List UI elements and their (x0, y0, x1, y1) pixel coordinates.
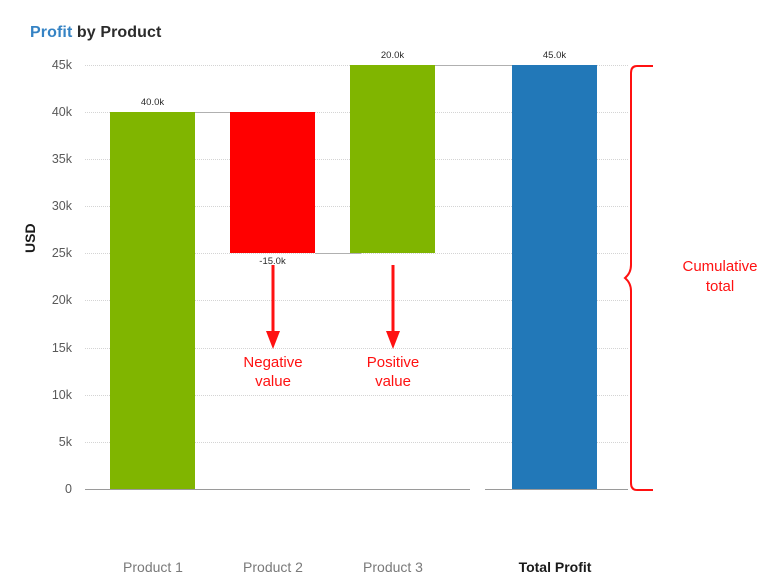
xtick-label-product-2: Product 2 (213, 559, 333, 575)
bar-product-2[interactable] (230, 112, 315, 253)
ytick-label-5k: 5k (12, 435, 72, 449)
positive-value-annotation: Positive value (333, 354, 453, 392)
negative-value-arrow-icon (262, 265, 284, 355)
ytick-label-20k: 20k (12, 293, 72, 307)
bar-product-1[interactable] (110, 112, 195, 489)
x-axis-line-left (85, 489, 470, 490)
cumulative-total-annotation-line1: Cumulative (682, 258, 757, 275)
cumulative-total-annotation-line2: total (706, 278, 734, 295)
plot-area: 45k 40k 35k 30k 25k 20k 15k 10k 5k 0 40.… (85, 65, 628, 489)
negative-value-annotation-line1: Negative (243, 354, 302, 371)
positive-value-annotation-line2: value (375, 373, 411, 390)
cumulative-total-brace-icon (623, 60, 657, 496)
negative-value-annotation-line2: value (255, 373, 291, 390)
bar-value-label-product-3: 20.0k (350, 50, 435, 61)
negative-value-annotation: Negative value (213, 354, 333, 392)
chart-title: Profit by Product (30, 24, 161, 42)
bar-value-label-total-profit: 45.0k (512, 50, 597, 61)
ytick-label-10k: 10k (12, 388, 72, 402)
chart-title-accent: Profit (30, 24, 72, 41)
bar-total-profit[interactable] (512, 65, 597, 489)
bar-product-3[interactable] (350, 65, 435, 253)
xtick-label-product-1: Product 1 (93, 559, 213, 575)
ytick-label-15k: 15k (12, 341, 72, 355)
y-axis-title: USD (22, 223, 38, 253)
ytick-label-45k: 45k (12, 58, 72, 72)
cumulative-total-annotation: Cumulative total (660, 257, 768, 296)
chart-title-rest: by Product (72, 24, 161, 41)
chart-canvas: Profit by Product 45k 40k 35k 30k 25k 20… (0, 0, 768, 562)
ytick-label-35k: 35k (12, 152, 72, 166)
connector-2 (315, 253, 361, 254)
bar-value-label-product-1: 40.0k (110, 97, 195, 108)
xtick-label-total-profit: Total Profit (495, 559, 615, 575)
connector-3 (435, 65, 512, 66)
ytick-label-30k: 30k (12, 199, 72, 213)
xtick-label-product-3: Product 3 (333, 559, 453, 575)
ytick-label-0: 0 (12, 482, 72, 496)
positive-value-arrow-icon (382, 265, 404, 355)
positive-value-annotation-line1: Positive (367, 354, 420, 371)
ytick-label-40k: 40k (12, 105, 72, 119)
y-axis-title-wrap: USD (22, 253, 52, 269)
x-axis-line-right (485, 489, 628, 490)
